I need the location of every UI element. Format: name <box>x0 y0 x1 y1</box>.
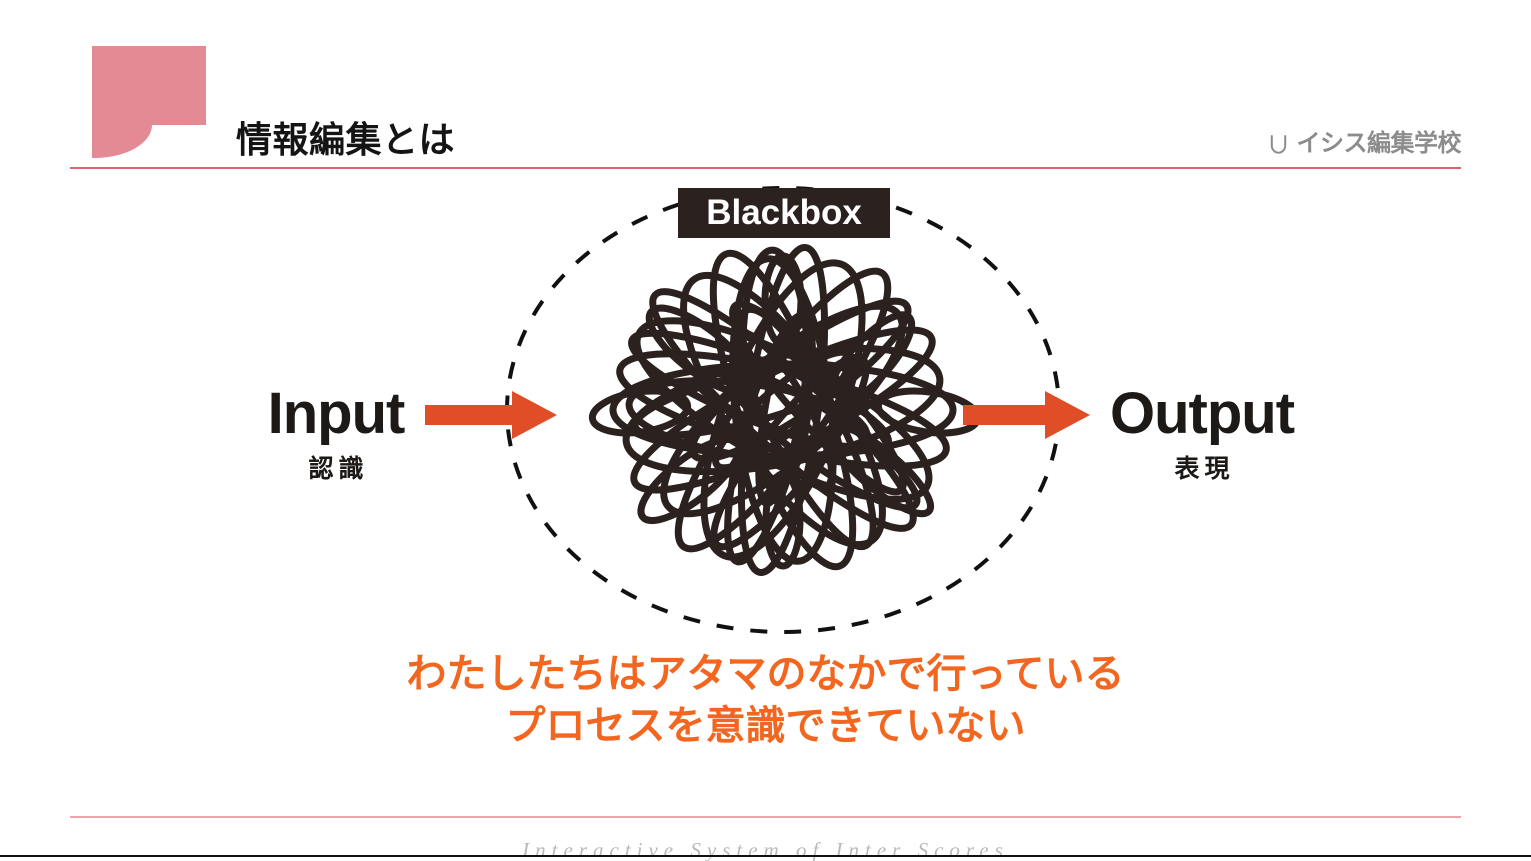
caption-line-2: プロセスを意識できていない <box>0 700 1531 752</box>
brand-name: イシス編集学校 <box>1297 131 1462 157</box>
output-block: Output 表現 <box>1062 383 1342 483</box>
crescent-circle-icon <box>1267 133 1290 156</box>
bottom-edge-line <box>0 855 1531 857</box>
caption-line-1: わたしたちはアタマのなかで行っている <box>0 648 1531 700</box>
dashed-ellipse-boundary <box>507 188 1059 632</box>
blackbox-label: Blackbox <box>678 188 890 238</box>
flag-bookmark-mark <box>92 46 206 158</box>
input-sublabel: 認識 <box>196 455 476 483</box>
flag-top-block <box>92 46 206 125</box>
flag-tail-block <box>92 125 152 158</box>
output-sublabel: 表現 <box>1062 455 1342 483</box>
caption-block: わたしたちはアタマのなかで行っている プロセスを意識できていない <box>0 648 1531 752</box>
header-divider <box>70 167 1461 169</box>
input-label: Input <box>196 383 476 445</box>
footer-divider <box>70 816 1461 818</box>
footer-tagline: Interactive System of Inter Scores <box>0 838 1531 861</box>
page-title: 情報編集とは <box>236 118 455 162</box>
blackbox-label-text: Blackbox <box>706 194 862 232</box>
tangled-scribble-ball <box>590 239 981 580</box>
input-block: Input 認識 <box>196 383 476 483</box>
output-label: Output <box>1062 383 1342 445</box>
slide-canvas: 情報編集とは イシス編集学校 <box>0 0 1531 861</box>
brand-logo: イシス編集学校 <box>1267 131 1462 157</box>
